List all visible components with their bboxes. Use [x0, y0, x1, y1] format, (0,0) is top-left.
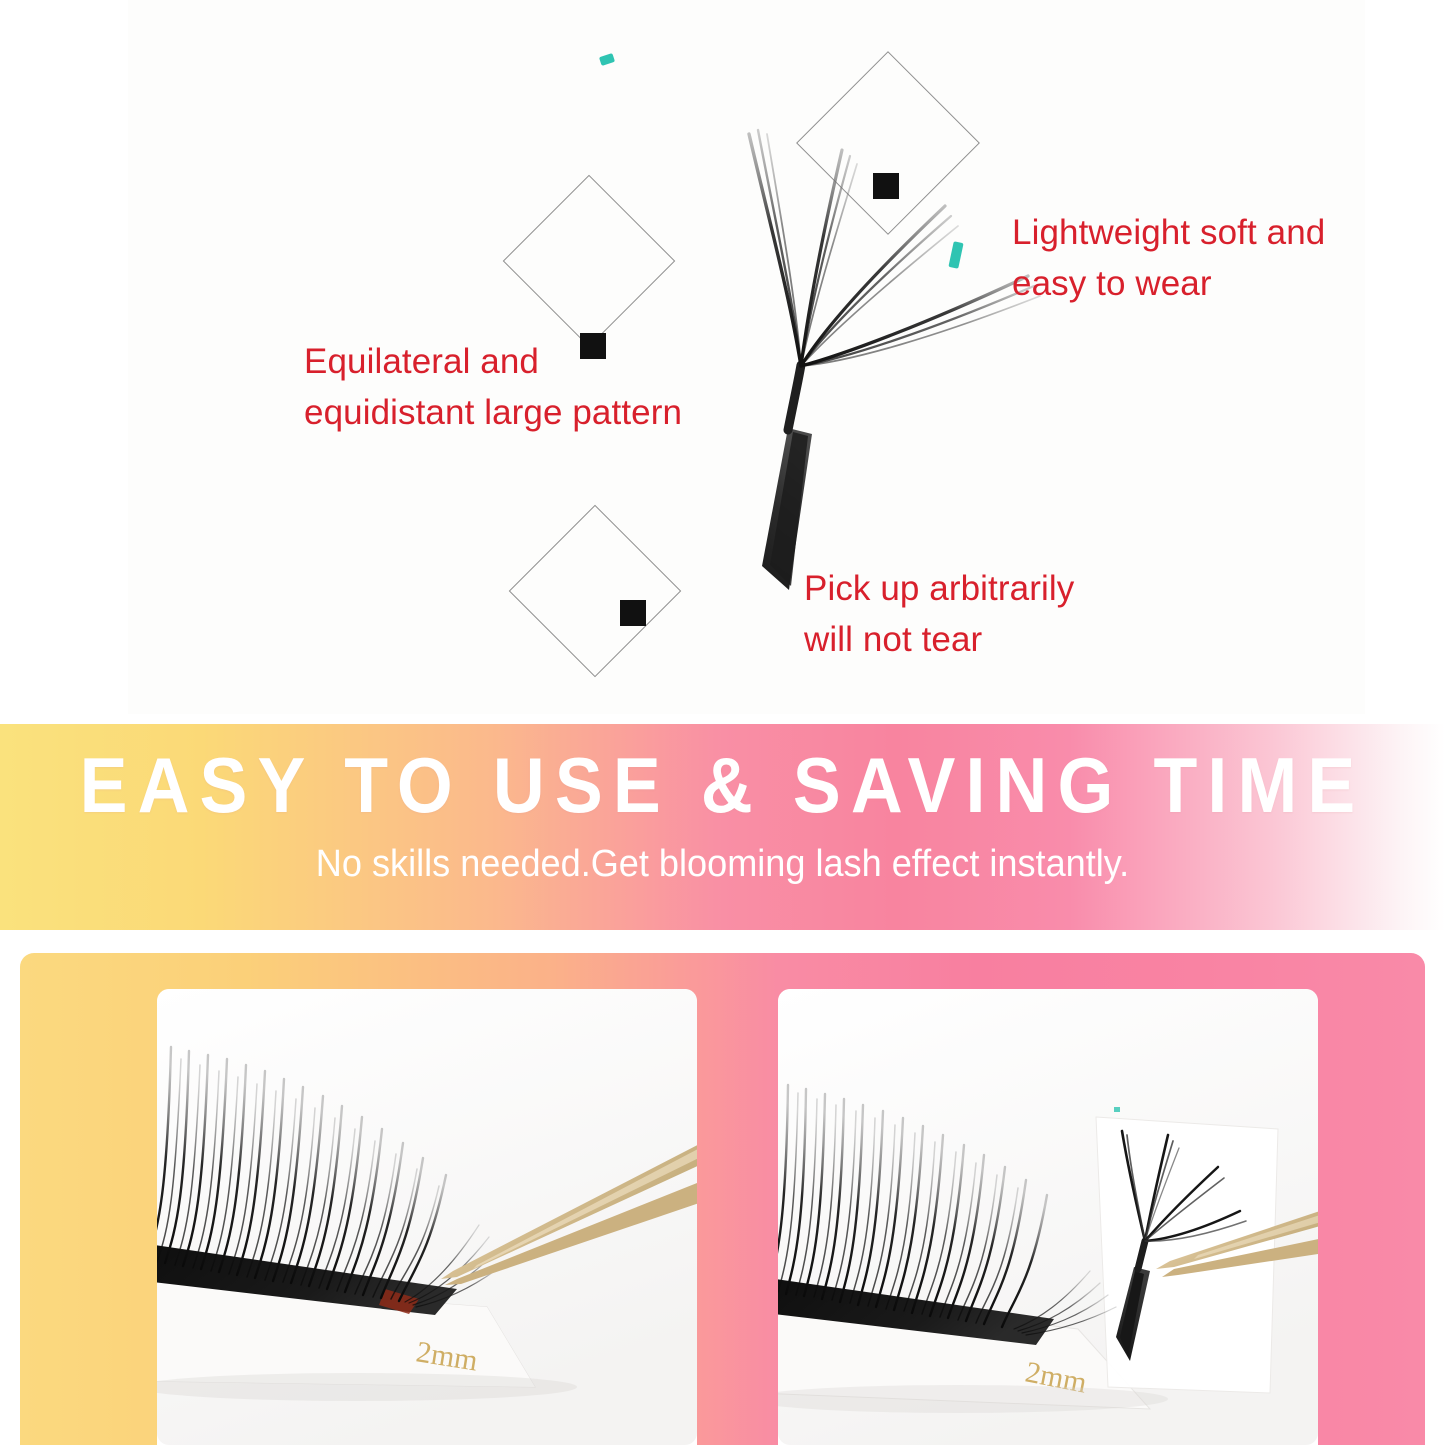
top-diagram-panel: Equilateral and equidistant large patter…	[0, 0, 1445, 722]
promo-banner: EASY TO USE & SAVING TIME No skills need…	[0, 724, 1445, 930]
banner-subtitle: No skills needed.Get blooming lash effec…	[36, 844, 1409, 886]
diagram-canvas: Equilateral and equidistant large patter…	[128, 0, 1365, 714]
callout-lightweight: Lightweight soft and easy to wear	[1012, 207, 1432, 309]
banner-headline: EASY TO USE & SAVING TIME	[58, 746, 1387, 824]
product-photo-right: 2mm	[778, 989, 1318, 1445]
callout-equilateral: Equilateral and equidistant large patter…	[304, 336, 774, 438]
lash-fan-illustration	[598, 30, 1118, 610]
product-photo-left: 2mm	[157, 989, 697, 1445]
product-photo-panel: 2mm	[20, 953, 1425, 1445]
callout-pickup: Pick up arbitrarily will not tear	[804, 563, 1204, 665]
